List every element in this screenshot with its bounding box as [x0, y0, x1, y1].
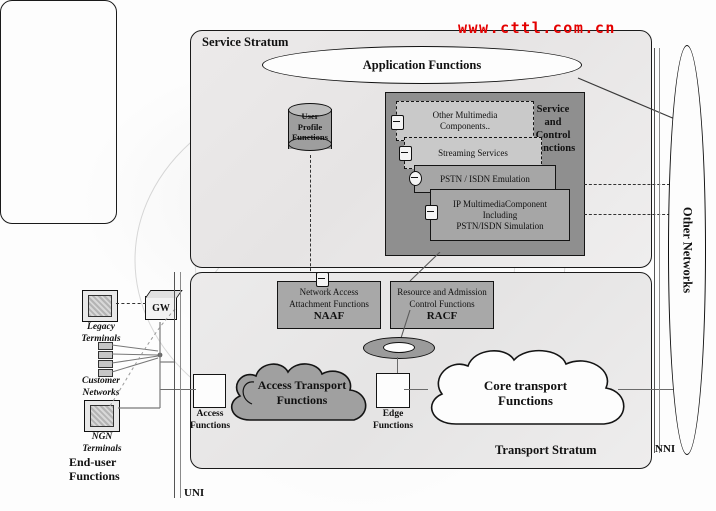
port-other-multimedia-icon: [391, 115, 404, 130]
other-networks-ellipse: Other Networks: [668, 45, 706, 455]
application-functions-label: Application Functions: [363, 58, 481, 73]
nni-line-left: [654, 48, 655, 453]
core-transport-label: Core transport Functions: [418, 378, 633, 408]
transport-stratum-label: Transport Stratum: [495, 443, 597, 458]
uni-line-right: [180, 272, 181, 498]
other-multimedia-components-box: Other Multimedia Components..: [396, 101, 534, 141]
watermark-url: www.cttl.com.cn: [458, 19, 616, 37]
scf-nni-link-1: [584, 184, 670, 185]
access-transport-label: Access Transport Functions: [222, 378, 382, 408]
ngn-terminals-label: NGN Terminals: [74, 432, 130, 455]
core-to-nni-line: [618, 389, 674, 390]
racf-connector-lines: [355, 252, 475, 344]
user-profile-connector: [310, 155, 311, 281]
access-functions-box: [193, 374, 226, 408]
port-naaf-icon: [316, 272, 329, 287]
service-control-functions-block: Service and Control Functions Other Mult…: [385, 92, 585, 256]
user-profile-functions-cylinder: User Profile Functions: [288, 103, 332, 155]
end-user-functions-label: End-user Functions: [69, 455, 169, 483]
edge-functions-label: Edge Functions: [366, 409, 420, 432]
app-to-other-networks-connector: [560, 70, 690, 130]
nni-line-right: [659, 48, 660, 453]
service-stratum-label: Service Stratum: [202, 35, 288, 50]
ip-multimedia-component-box: IP MultimediaComponent Including PSTN/IS…: [430, 189, 570, 241]
nni-label: NNI: [655, 443, 675, 455]
end-user-wiring: [80, 296, 180, 421]
edge-to-core-line: [404, 389, 428, 390]
access-functions-label: Access Functions: [182, 409, 238, 432]
user-profile-functions-label: User Profile Functions: [288, 111, 332, 143]
scf-nni-link-2: [584, 214, 670, 215]
uni-line-left: [174, 272, 175, 498]
application-functions-ellipse: Application Functions: [262, 46, 582, 84]
uni-label: UNI: [184, 487, 204, 499]
port-pstn-isdn-icon: [409, 171, 422, 186]
ngn-architecture-diagram: 网络体系 下一代 图 1 Service Stratum www.cttl.co…: [0, 0, 716, 511]
port-ip-multimedia-icon: [425, 205, 438, 220]
edge-functions-box: [376, 373, 410, 408]
other-networks-label: Other Networks: [680, 207, 695, 293]
port-streaming-services-icon: [399, 146, 412, 161]
